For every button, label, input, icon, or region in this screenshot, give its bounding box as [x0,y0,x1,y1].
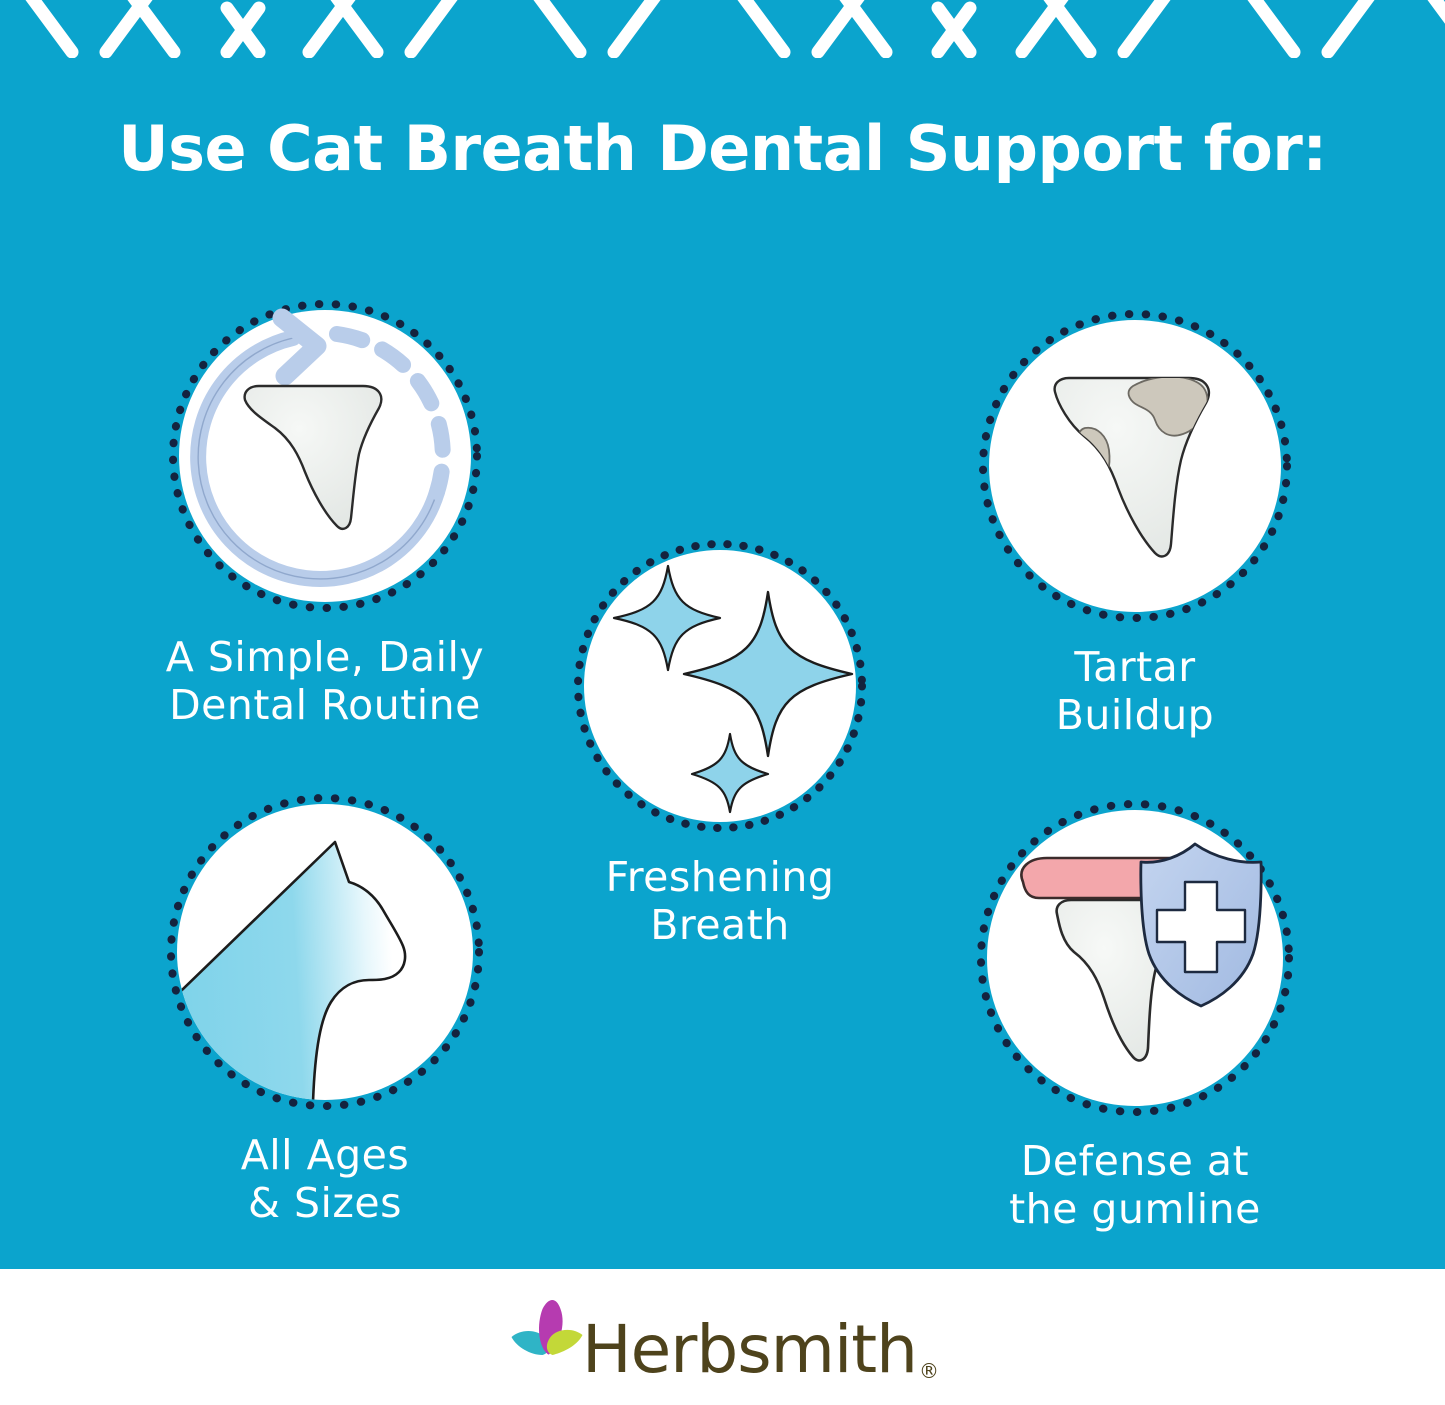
feature-all-ages-sizes: All Ages & Sizes [75,790,575,1227]
feature-label: Tartar Buildup [900,644,1370,739]
zigzag-x-band-pattern [0,0,1445,58]
infographic-page: Use Cat Breath Dental Support for: [0,0,1445,1405]
registered-trademark-symbol: ® [919,1359,939,1383]
feature-label: All Ages & Sizes [75,1132,575,1227]
feature-tartar-buildup: Tartar Buildup [900,306,1370,739]
brand-wordmark: Herbsmith [582,1317,917,1383]
three-petal-leaf-icon [506,1283,586,1379]
tooth-tartar-icon [975,306,1295,626]
blue-background-panel: Use Cat Breath Dental Support for: [0,0,1445,1269]
feature-label: Defense at the gumline [890,1138,1380,1233]
feature-daily-routine: A Simple, Daily Dental Routine [75,296,575,729]
tooth-refresh-cycle-icon [165,296,485,616]
footer-bar: Herbsmith ® [0,1269,1445,1405]
cat-head-silhouette-icon [163,790,487,1114]
feature-label: A Simple, Daily Dental Routine [75,634,575,729]
page-title: Use Cat Breath Dental Support for: [0,118,1445,180]
tooth-gum-shield-icon [973,796,1297,1120]
sparkles-icon [570,536,870,836]
feature-gumline-defense: Defense at the gumline [890,796,1380,1233]
brand-logo: Herbsmith ® [506,1283,939,1383]
